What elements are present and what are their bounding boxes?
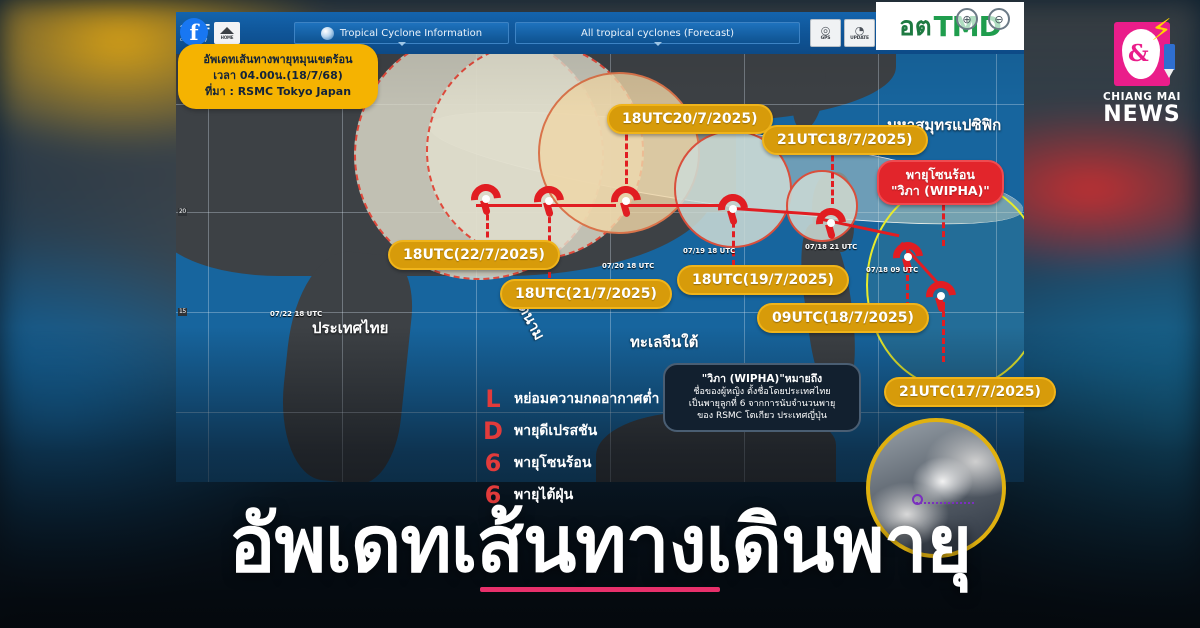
forecast-time-label: 21UTC(17/7/2025): [884, 377, 1056, 407]
legend-row: Dพายุดีเปรสชัน: [482, 420, 659, 442]
map-legend: Lหย่อมความกดอากาศต่ำDพายุดีเปรสชัน6พายุโ…: [482, 388, 659, 516]
tmd-mark: อต: [899, 6, 932, 47]
forecast-time-label: 18UTC(19/7/2025): [677, 265, 849, 295]
home-button[interactable]: HOME: [214, 22, 240, 44]
storm-symbol-18jul-21utc: [814, 206, 848, 240]
update-button[interactable]: ◔UPDATE: [844, 19, 875, 47]
storm-callout-line2: "วิภา (WIPHA)": [891, 183, 990, 199]
brand-line-2: NEWS: [1098, 103, 1186, 126]
legend-symbol-icon: 6: [482, 452, 504, 474]
cyclone-icon: [321, 27, 334, 40]
ampersand-icon: &: [1128, 40, 1149, 67]
headline-underline: [480, 587, 720, 592]
gps-icon: ◎: [821, 25, 831, 36]
legend-symbol-icon: L: [482, 388, 504, 410]
forecast-time-label: 09UTC(18/7/2025): [757, 303, 929, 333]
storm-callout-line1: พายุโซนร้อน: [906, 167, 975, 183]
tmd-logo: อต TMD ⊕ ⊖: [876, 2, 1024, 50]
geo-label: ประเทศไทย: [312, 316, 388, 340]
geo-label: ทะเลจีนใต้: [630, 330, 698, 354]
lightning-bolt-icon: ⚡: [1151, 16, 1172, 46]
legend-label: พายุโซนร้อน: [514, 452, 591, 474]
gps-button[interactable]: ◎GPS: [810, 19, 841, 47]
legend-symbol-icon: D: [482, 420, 504, 442]
legend-row: 6พายุโซนร้อน: [482, 452, 659, 474]
zoom-in-icon[interactable]: ⊕: [956, 8, 978, 30]
legend-label: พายุดีเปรสชัน: [514, 420, 597, 442]
home-label: HOME: [221, 35, 234, 40]
info-title: "วิภา (WIPHA)"หมายถึง: [674, 372, 850, 386]
zoom-out-icon[interactable]: ⊖: [988, 8, 1010, 30]
storm-name-callout: พายุโซนร้อน "วิภา (WIPHA)": [877, 160, 1004, 205]
chiang-mai-news-logo: & ⚡ CHIANG MAI NEWS: [1098, 22, 1186, 126]
source-line-2: เวลา 04.00น.(18/7/68): [186, 68, 370, 84]
chevron-down-icon: [398, 42, 406, 46]
menu-tropical-cyclone-information[interactable]: Tropical Cyclone Information: [294, 22, 509, 44]
update-icon: ◔: [855, 25, 865, 36]
forecast-time-label: 18UTC(21/7/2025): [500, 279, 672, 309]
info-line-4: ของ RSMC โตเกียว ประเทศญี่ปุ่น: [674, 410, 850, 422]
legend-label: หย่อมความกดอากาศต่ำ: [514, 388, 659, 410]
home-icon: [220, 27, 234, 34]
forecast-time-label: 18UTC20/7/2025): [607, 104, 773, 134]
storm-symbol-19jul: [716, 192, 750, 226]
source-line-1: อัพเดทเส้นทางพายุหมุนเขตร้อน: [186, 52, 370, 68]
storm-symbol-21jul: [532, 184, 566, 218]
track-utc-stamp: 07/18 21 UTC: [805, 243, 857, 251]
gps-caption: GPS: [821, 36, 831, 41]
update-caption: UPDATE: [850, 36, 869, 41]
forecast-time-label: 18UTC(22/7/2025): [388, 240, 560, 270]
track-utc-stamp: 07/18 09 UTC: [866, 266, 918, 274]
track-utc-stamp: 07/20 18 UTC: [602, 262, 654, 270]
facebook-icon[interactable]: f: [180, 18, 208, 46]
menu-label: Tropical Cyclone Information: [340, 28, 482, 39]
forecast-time-label: 21UTC18/7/2025): [762, 125, 928, 155]
storm-symbol-22jul: [469, 182, 503, 216]
info-line-3: เป็นพายุลูกที่ 6 จากการนับจำนวนพายุ: [674, 398, 850, 410]
page-headline: อัพเดทเส้นทางเดินพายุ: [0, 506, 1200, 584]
legend-row: Lหย่อมความกดอากาศต่ำ: [482, 388, 659, 410]
update-source-box: อัพเดทเส้นทางพายุหมุนเขตร้อน เวลา 04.00น…: [178, 44, 378, 109]
track-utc-stamp: 07/19 18 UTC: [683, 247, 735, 255]
storm-symbol-17jul: [924, 279, 958, 313]
menu-label: All tropical cyclones (Forecast): [581, 28, 734, 39]
storm-name-meaning-box: "วิภา (WIPHA)"หมายถึง ชื่อของผู้หญิง ตั้…: [663, 363, 861, 432]
leader-line: [625, 126, 628, 184]
menu-all-tropical-cyclones[interactable]: All tropical cyclones (Forecast): [515, 22, 800, 44]
brand-mark-icon: & ⚡: [1114, 22, 1170, 86]
storm-symbol-20jul: [609, 184, 643, 218]
chevron-down-icon: [654, 42, 662, 46]
info-line-2: ชื่อของผู้หญิง ตั้งชื่อโดยประเทศไทย: [674, 386, 850, 398]
source-line-3: ที่มา : RSMC Tokyo Japan: [186, 84, 370, 100]
